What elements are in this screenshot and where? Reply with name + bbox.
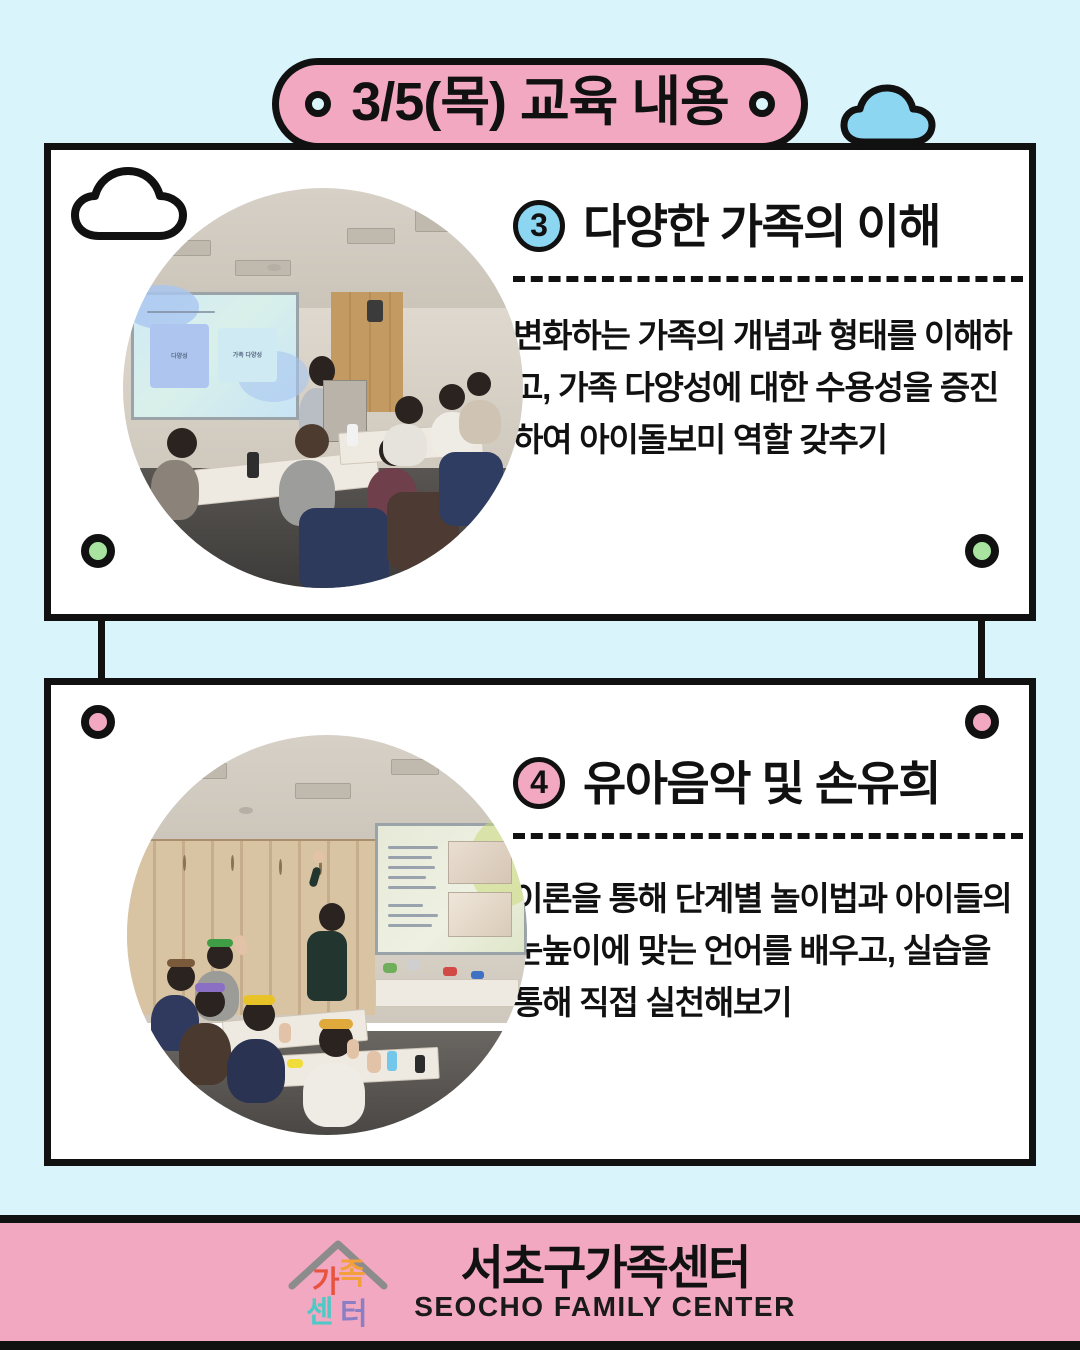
card-connector-right bbox=[978, 618, 985, 682]
card-3-description: 변화하는 가족의 개념과 형태를 이해하고, 가족 다양성에 대한 수용성을 증… bbox=[513, 310, 1025, 466]
title-banner: 3/5(목) 교육 내용 bbox=[0, 56, 1080, 152]
deco-dot-left-card3 bbox=[81, 534, 115, 568]
card-4-description: 이론을 통해 단계별 놀이법과 아이들의 눈높이에 맞는 언어를 배우고, 실습… bbox=[513, 873, 1025, 1029]
card-4-divider bbox=[513, 833, 1023, 839]
house-family-center-logo-icon: 가 족 센 터 bbox=[284, 1234, 392, 1330]
card-4-title: 유아음악 및 손유희 bbox=[583, 760, 940, 807]
deco-dot-right-card4 bbox=[965, 705, 999, 739]
card-3-divider bbox=[513, 276, 1023, 282]
deco-dot-right-card3 bbox=[965, 534, 999, 568]
content-card-4: 4 유아음악 및 손유희 이론을 통해 단계별 놀이법과 아이들의 눈높이에 맞… bbox=[44, 678, 1036, 1166]
ring-dot-icon-right bbox=[749, 91, 775, 117]
card-connector-left bbox=[98, 618, 105, 682]
svg-text:족: 족 bbox=[338, 1258, 366, 1291]
card-4-header: 4 유아음악 및 손유희 bbox=[513, 757, 1023, 809]
page-title: 3/5(목) 교육 내용 bbox=[351, 75, 728, 133]
svg-text:센: 센 bbox=[306, 1296, 334, 1329]
deco-dot-left-card4 bbox=[81, 705, 115, 739]
svg-text:가: 가 bbox=[312, 1266, 340, 1299]
card-3-photo: 다양성 가족 다양성 bbox=[123, 188, 523, 588]
card-3-header: 3 다양한 가족의 이해 bbox=[513, 200, 1023, 252]
card-3-title: 다양한 가족의 이해 bbox=[583, 203, 940, 250]
card-4-text: 4 유아음악 및 손유희 이론을 통해 단계별 놀이법과 아이들의 눈높이에 맞… bbox=[513, 757, 1023, 1029]
footer-brand: 서초구가족센터 SEOCHO FAMILY CENTER bbox=[414, 1244, 796, 1321]
content-card-3: 다양성 가족 다양성 bbox=[44, 143, 1036, 621]
card-4-photo bbox=[127, 735, 527, 1135]
title-pill: 3/5(목) 교육 내용 bbox=[272, 58, 807, 150]
ring-dot-icon-left bbox=[305, 91, 331, 117]
poster-root: 3/5(목) 교육 내용 bbox=[0, 0, 1080, 1350]
svg-text:터: 터 bbox=[340, 1298, 368, 1330]
card-3-text: 3 다양한 가족의 이해 변화하는 가족의 개념과 형태를 이해하고, 가족 다… bbox=[513, 200, 1023, 466]
footer-bar: 가 족 센 터 서초구가족센터 SEOCHO FAMILY CENTER bbox=[0, 1215, 1080, 1350]
footer-name-en: SEOCHO FAMILY CENTER bbox=[414, 1293, 796, 1321]
footer-name-ko: 서초구가족센터 bbox=[461, 1244, 750, 1291]
cloud-outline-icon bbox=[69, 164, 189, 247]
